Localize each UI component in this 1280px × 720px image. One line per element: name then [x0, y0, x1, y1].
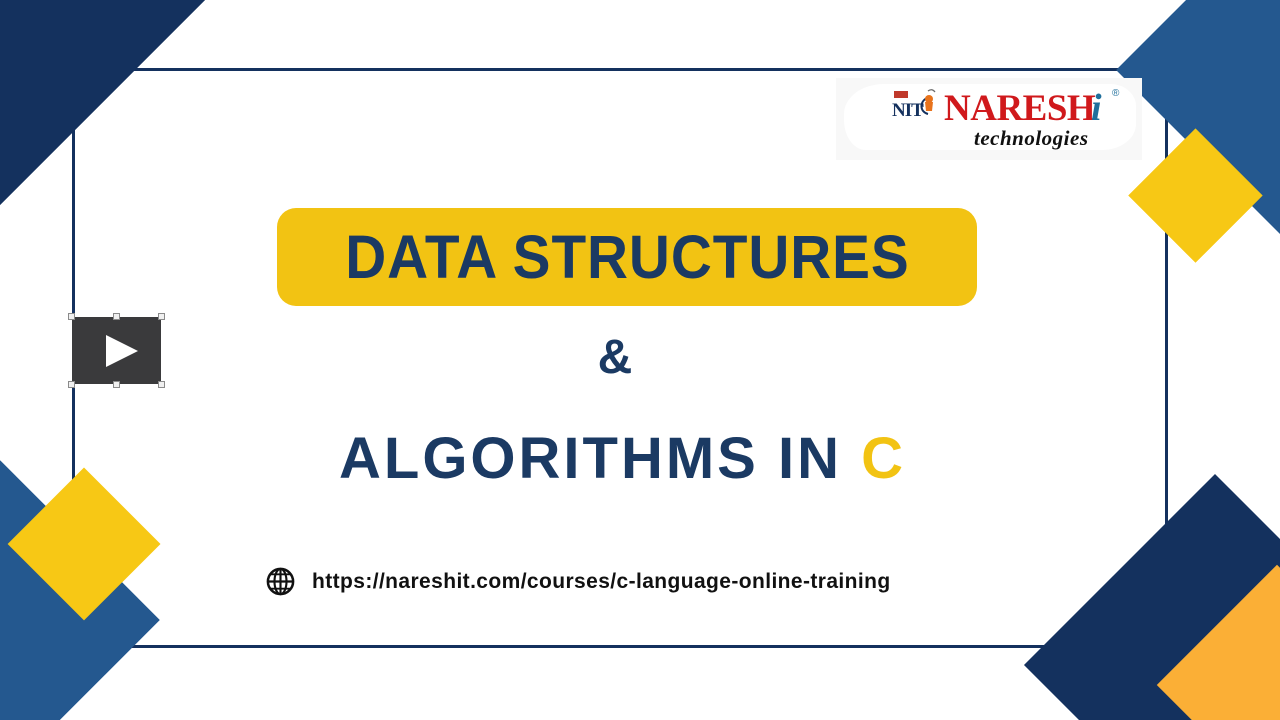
presentation-slide: NIT NARESH i ® technologies DATA STRUCTU…: [0, 0, 1280, 720]
selection-handle-top-right[interactable]: [158, 313, 165, 320]
naresh-it-logo: NIT NARESH i ® technologies: [836, 78, 1142, 160]
selection-handle-bottom-center[interactable]: [113, 381, 120, 388]
logo-person-icon: [916, 88, 938, 124]
video-placeholder-object[interactable]: [68, 313, 165, 388]
subtitle-highlight-text: C: [861, 426, 906, 491]
logo-tagline: technologies: [974, 126, 1089, 151]
page-subtitle: ALGORITHMS IN C: [0, 425, 1245, 492]
selection-handle-bottom-left[interactable]: [68, 381, 75, 388]
subtitle-main-text: ALGORITHMS IN: [339, 426, 861, 491]
logo-brand-i: i: [1091, 86, 1102, 130]
logo-brand-text: NARESH: [944, 87, 1095, 130]
selection-handle-top-center[interactable]: [113, 313, 120, 320]
title-badge: DATA STRUCTURES: [277, 208, 977, 306]
play-icon[interactable]: [106, 335, 138, 367]
selection-handle-top-left[interactable]: [68, 313, 75, 320]
course-url-text[interactable]: https://nareshit.com/courses/c-language-…: [312, 570, 891, 594]
selection-handle-bottom-right[interactable]: [158, 381, 165, 388]
page-title: DATA STRUCTURES: [345, 222, 909, 292]
globe-icon: [265, 566, 296, 597]
course-url-row[interactable]: https://nareshit.com/courses/c-language-…: [265, 566, 891, 597]
logo-registered-mark: ®: [1112, 88, 1119, 99]
logo-nit-accent: [894, 91, 908, 98]
video-thumbnail[interactable]: [72, 317, 161, 384]
title-conjunction: &: [0, 330, 1230, 385]
decor-triangle-top-left-navy-overlay: [0, 0, 205, 205]
